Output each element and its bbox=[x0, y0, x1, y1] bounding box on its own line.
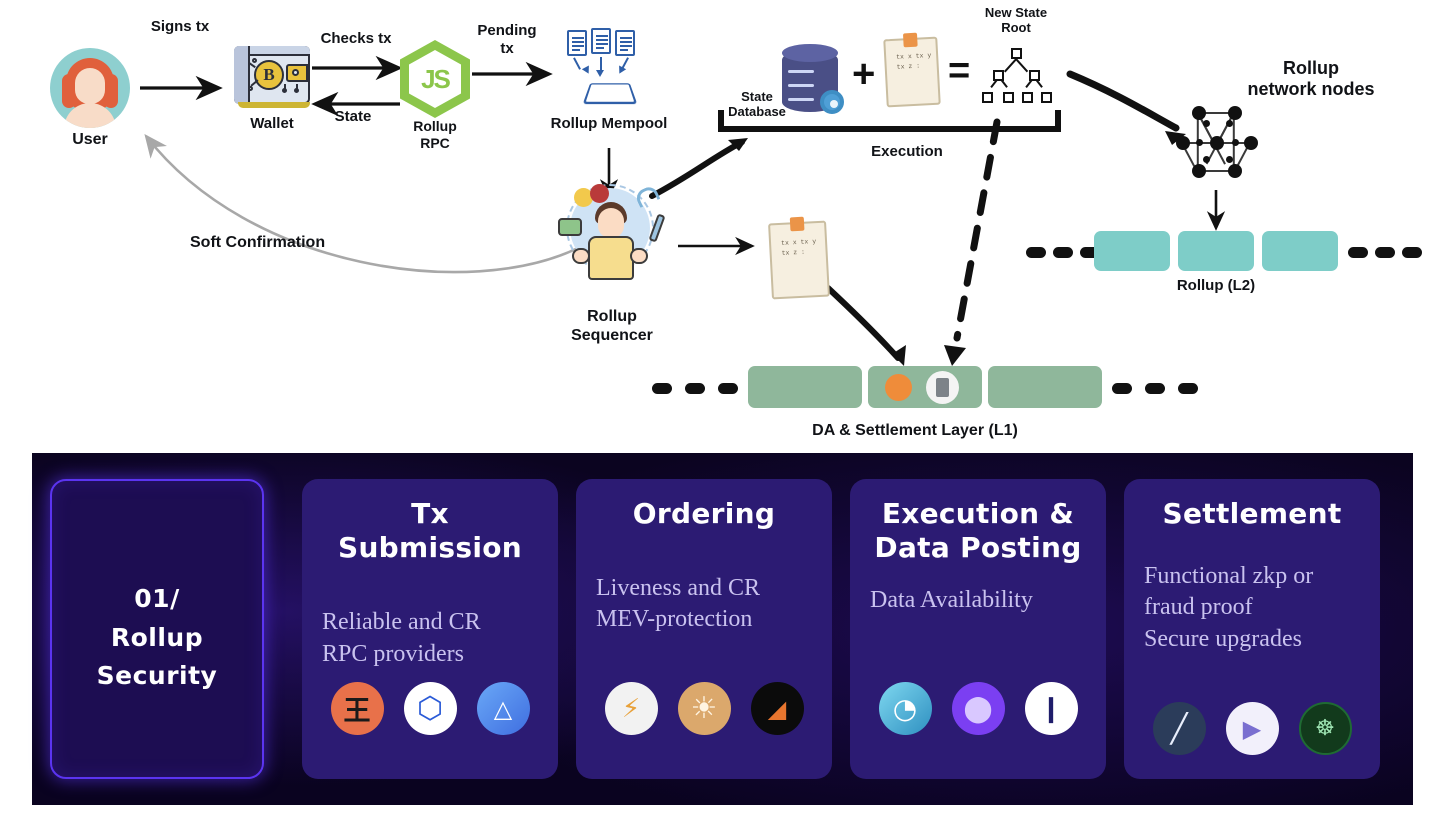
label-new-state-root: New State Root bbox=[966, 5, 1066, 36]
plus-glyph: + bbox=[852, 52, 875, 97]
user-avatar bbox=[50, 48, 130, 128]
label-checks-tx: Checks tx bbox=[308, 30, 404, 48]
label-signs-tx: Signs tx bbox=[132, 18, 228, 36]
infura-logo[interactable]: 王 bbox=[331, 682, 384, 735]
label-execution: Execution bbox=[852, 143, 962, 161]
l2-dot-right-2 bbox=[1375, 247, 1395, 258]
l1-block-2 bbox=[868, 366, 982, 408]
l2-block-2 bbox=[1178, 231, 1254, 271]
protect-scale-seal-logo[interactable]: ☸ bbox=[1299, 702, 1352, 755]
card-execution-data-posting[interactable]: Execution & Data Posting Data Availabili… bbox=[850, 479, 1106, 779]
l1-blob-icon bbox=[885, 374, 912, 401]
card-body-tx-submission: Reliable and CR RPC providers bbox=[322, 607, 538, 669]
l1-dot-right-1 bbox=[1112, 383, 1132, 394]
logo-row-ordering: ⚡ ☀ ◢ bbox=[576, 682, 832, 735]
l2-block-1 bbox=[1094, 231, 1170, 271]
l1-dot-right-3 bbox=[1178, 383, 1198, 394]
execution-bracket-bar bbox=[718, 126, 1061, 132]
card-title-ordering: Ordering bbox=[596, 497, 812, 531]
label-rollup-rpc: Rollup RPC bbox=[392, 118, 478, 151]
screenshot-root: User Signs tx B Wallet Checks tx State J… bbox=[0, 0, 1430, 826]
card-settlement[interactable]: Settlement Functional zkp or fraud proof… bbox=[1124, 479, 1380, 779]
network-nodes-icon bbox=[1178, 100, 1256, 180]
card-ordering[interactable]: Ordering Liveness and CR MEV-protection … bbox=[576, 479, 832, 779]
l1-dot-left-2 bbox=[685, 383, 705, 394]
wallet-icon: B bbox=[228, 42, 312, 108]
execution-bracket-right bbox=[1055, 110, 1061, 130]
label-rollup-l2: Rollup (L2) bbox=[1152, 277, 1280, 295]
arrowhead-notes-to-l1 bbox=[892, 345, 906, 366]
arrow-execution-to-nodes bbox=[1070, 74, 1176, 128]
arrow-execution-to-l1-dashed bbox=[957, 122, 997, 338]
nodejs-icon: JS bbox=[400, 40, 470, 118]
l2-block-3 bbox=[1262, 231, 1338, 271]
merkle-tree-icon bbox=[975, 48, 1055, 106]
tx-notes-icon-bottom: tx x tx y tx z : bbox=[768, 221, 830, 300]
wallet-coin-symbol: B bbox=[263, 65, 274, 85]
hero-title: 01/ Rollup Security bbox=[97, 580, 218, 696]
arrow-sequencer-to-execution bbox=[652, 142, 742, 196]
label-user: User bbox=[52, 131, 128, 150]
card-rollup-security[interactable]: 01/ Rollup Security bbox=[50, 479, 264, 779]
arrow-notes-to-l1 bbox=[828, 288, 898, 358]
card-title-settlement: Settlement bbox=[1144, 497, 1360, 531]
rollup-security-panel: 01/ Rollup Security Tx Submission Reliab… bbox=[32, 453, 1413, 805]
execution-bracket-left bbox=[718, 110, 724, 130]
arrowhead-sequencer-to-execution bbox=[728, 138, 748, 151]
equals-glyph: = bbox=[948, 50, 970, 93]
label-state: State bbox=[312, 108, 394, 126]
label-wallet: Wallet bbox=[226, 115, 318, 133]
l2-dot-right-3 bbox=[1402, 247, 1422, 258]
celestia-logo[interactable]: ◔ bbox=[879, 682, 932, 735]
tx-notes-text-top: tx x tx y tx z : bbox=[896, 51, 937, 73]
alchemy-logo[interactable]: △ bbox=[477, 682, 530, 735]
astria-logo[interactable]: ◢ bbox=[751, 682, 804, 735]
avail-logo[interactable]: ❙ bbox=[1025, 682, 1078, 735]
arbitrum-logo[interactable]: ╱ bbox=[1153, 702, 1206, 755]
ankr-logo[interactable]: ⬡ bbox=[404, 682, 457, 735]
label-da-settlement-layer: DA & Settlement Layer (L1) bbox=[790, 422, 1040, 441]
l1-proof-icon bbox=[926, 371, 959, 404]
logo-row-tx-submission: 王 ⬡ △ bbox=[302, 682, 558, 735]
l2-dot-left-1 bbox=[1026, 247, 1046, 258]
l1-block-1 bbox=[748, 366, 862, 408]
l1-dot-left-3 bbox=[718, 383, 738, 394]
mempool-icon bbox=[565, 30, 655, 108]
logo-row-execution-data-posting: ◔ ⬤ ❙ bbox=[850, 682, 1106, 735]
label-state-database: State Database bbox=[720, 89, 794, 120]
sequencer-icon bbox=[556, 182, 664, 290]
arrowhead-execution-to-l1 bbox=[944, 345, 966, 366]
label-soft-confirmation: Soft Confirmation bbox=[190, 234, 368, 253]
l1-dot-right-2 bbox=[1145, 383, 1165, 394]
l1-dot-left-1 bbox=[652, 383, 672, 394]
tx-notes-text-bottom: tx x tx y tx z : bbox=[781, 237, 826, 259]
label-pending-tx: Pending tx bbox=[462, 22, 552, 57]
l1-block-3 bbox=[988, 366, 1102, 408]
card-title-tx-submission: Tx Submission bbox=[322, 497, 538, 565]
label-rollup-mempool: Rollup Mempool bbox=[536, 115, 682, 133]
zksync-logo[interactable]: ▶ bbox=[1226, 702, 1279, 755]
tx-notes-icon-top: tx x tx y tx z : bbox=[883, 37, 940, 108]
l2-dot-left-2 bbox=[1053, 247, 1073, 258]
card-body-execution-data-posting: Data Availability bbox=[870, 585, 1086, 616]
rollup-architecture-diagram: User Signs tx B Wallet Checks tx State J… bbox=[0, 0, 1430, 453]
espresso-logo[interactable]: ☀ bbox=[678, 682, 731, 735]
card-body-ordering: Liveness and CR MEV-protection bbox=[596, 573, 812, 635]
card-tx-submission[interactable]: Tx Submission Reliable and CR RPC provid… bbox=[302, 479, 558, 779]
card-body-settlement: Functional zkp or fraud proof Secure upg… bbox=[1144, 561, 1360, 655]
flashbots-logo[interactable]: ⚡ bbox=[605, 682, 658, 735]
label-rollup-network-nodes: Rollup network nodes bbox=[1222, 58, 1400, 100]
card-title-execution-data-posting: Execution & Data Posting bbox=[870, 497, 1086, 565]
diagram-arrows-layer bbox=[0, 0, 1430, 453]
eigenda-logo[interactable]: ⬤ bbox=[952, 682, 1005, 735]
l2-dot-right-1 bbox=[1348, 247, 1368, 258]
logo-row-settlement: ╱ ▶ ☸ bbox=[1124, 702, 1380, 755]
label-rollup-sequencer: Rollup Sequencer bbox=[548, 308, 676, 346]
